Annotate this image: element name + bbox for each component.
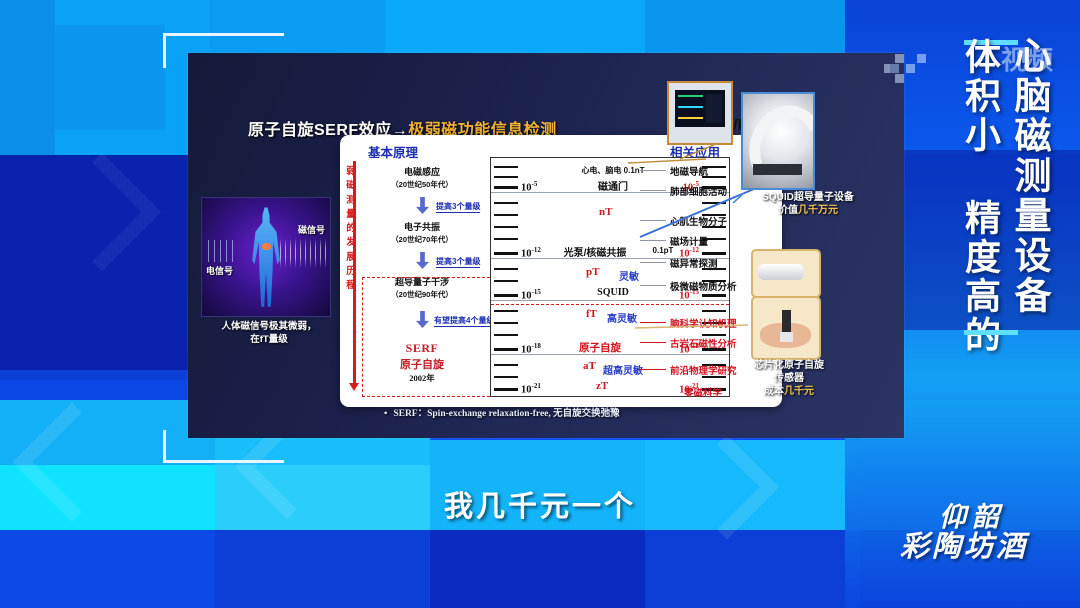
chip-sensor-device-photo — [751, 249, 821, 298]
body-image-caption: 人体磁信号极其微弱， 在fT量级 — [194, 321, 344, 347]
down-arrow-icon — [416, 197, 429, 214]
application-item: 古岩石磁性分析 — [670, 336, 737, 350]
principle-step-name: 电磁感应 — [362, 166, 482, 178]
scale-tick-label: 10-18 — [521, 342, 541, 356]
scale-unit-nt: nT — [599, 206, 612, 218]
scale-unit-pt: pT — [586, 266, 599, 278]
principle-step-name: 电子共振 — [362, 221, 482, 233]
watermark-text: 视频 — [1001, 40, 1053, 77]
serf-block: SERF 原子自旋 2002年 — [362, 341, 482, 384]
scale-note-sensitive: 灵敏 — [619, 268, 639, 283]
squid-caption-line1: SQUID超导量子设备 — [720, 191, 896, 204]
chip-caption: 芯片化原子自旋 传感器 成本几千元 — [726, 359, 852, 398]
principle-step: 电磁感应 （20世纪50年代） — [362, 166, 482, 190]
ecg-trace — [678, 95, 703, 97]
gain-label: 提高3个量级 — [436, 201, 480, 213]
electric-waveform — [208, 240, 238, 262]
bg-block — [0, 530, 215, 608]
bg-block — [430, 530, 645, 608]
gain-label: 提高3个量级 — [436, 256, 480, 268]
scale-tick-label: 10-5 — [521, 180, 537, 194]
body-silhouette — [251, 207, 281, 308]
magnetic-signal-label: 磁信号 — [298, 223, 325, 236]
headline-left: 体积小 精度高的 — [954, 38, 1006, 355]
sensitivity-chart-card: 灵敏度(T/Hz1/2) 基本原理 相关应用 弱磁测量的发展历程 电磁感应 （2… — [340, 135, 782, 407]
channel-logo-icon — [884, 52, 924, 86]
footnote-bullet: • — [384, 409, 387, 419]
squid-caption-line2: 价值几千万元 — [720, 204, 896, 217]
chip-caption-line2: 传感器 — [726, 372, 852, 385]
patient-monitor-photo — [667, 81, 733, 145]
human-body-magnetic-image: 磁信号 电信号 — [201, 197, 331, 317]
brand-line-2: 彩陶坊酒 — [900, 533, 1028, 562]
scale-label-opm-nmr: 光泵/核磁共振 — [535, 244, 655, 259]
application-item: 零磁科学 — [684, 385, 722, 399]
squid-bed — [753, 164, 802, 175]
scale-unit-ft: fT — [586, 308, 597, 320]
footnote-text: SERF：Spin-exchange relaxation-free, 无自旋交… — [393, 409, 619, 419]
monitor-screen — [675, 90, 725, 127]
application-item: 肺部细胞活动 — [670, 184, 727, 198]
squid-device-photo — [741, 92, 815, 190]
chip-device-body — [758, 264, 804, 280]
application-item: 极微磁物质分析 — [670, 279, 737, 293]
heart-marker — [262, 243, 271, 250]
down-arrow-icon — [416, 252, 429, 269]
scale-note-ultra-sensitive: 超高灵敏 — [603, 362, 643, 377]
scale-unit-zt: zT — [596, 380, 608, 392]
scale-unit-at: aT — [583, 360, 596, 372]
application-item: 磁异常探测 — [670, 256, 718, 270]
chip-caption-line1: 芯片化原子自旋 — [726, 359, 852, 372]
serf-subtitle: 原子自旋 — [362, 356, 482, 372]
slide-footnote: •SERF：Spin-exchange relaxation-free, 无自旋… — [384, 405, 620, 419]
scale-tick-label: 10-15 — [521, 288, 541, 302]
chip-sensor-hand-photo — [751, 296, 821, 360]
application-item: 脑科学认知机理 — [670, 316, 737, 330]
sponsor-brand-logo: 仰韶 彩陶坊酒 — [916, 504, 1028, 562]
chip-caption-line3: 成本几千元 — [726, 385, 852, 398]
squid-caption: SQUID超导量子设备 价值几千万元 — [720, 191, 896, 217]
development-vertical-label: 弱磁测量的发展历程 — [343, 165, 359, 293]
brand-line-1: 仰韶 — [916, 504, 1028, 531]
electric-signal-label: 电信号 — [206, 264, 233, 277]
headline-divider-bottom — [964, 330, 1018, 335]
scale-tick-label: 10-21 — [521, 382, 541, 396]
application-item: 磁场计量 — [670, 234, 708, 248]
headline-right: 心脑磁测量设备 — [1002, 36, 1056, 316]
principle-step: 电子共振 （20世纪70年代） — [362, 221, 482, 245]
presentation-slide: 原子自旋SERF效应→极弱磁功能信息检测 磁信号 电信号 人体磁信号极其微弱， … — [188, 53, 904, 438]
magnetic-waveform — [280, 238, 326, 268]
resp-trace — [678, 117, 703, 119]
application-item: 心肌生物分子 — [670, 214, 727, 228]
spo2-trace — [678, 106, 703, 108]
bg-block — [55, 25, 165, 130]
scale-note-high-sensitive: 高灵敏 — [607, 310, 637, 325]
bg-block — [0, 0, 55, 155]
scale-label-atomic-spin: 原子自旋 — [579, 340, 621, 355]
application-item: 地磁导航 — [670, 164, 708, 178]
principle-step-era: （20世纪70年代） — [391, 235, 453, 244]
serf-title: SERF — [362, 341, 482, 356]
principle-step-era: （20世纪50年代） — [391, 180, 453, 189]
monitor-values-panel — [706, 94, 722, 123]
scale-label-squid: SQUID — [553, 287, 673, 298]
serf-year: 2002年 — [362, 372, 482, 384]
principle-column-title: 基本原理 — [368, 142, 418, 161]
screen: 原子自旋SERF效应→极弱磁功能信息检测 磁信号 电信号 人体磁信号极其微弱， … — [0, 0, 1080, 608]
sensor-base — [780, 332, 793, 343]
gain-label: 有望提高4个量级 — [434, 315, 494, 327]
